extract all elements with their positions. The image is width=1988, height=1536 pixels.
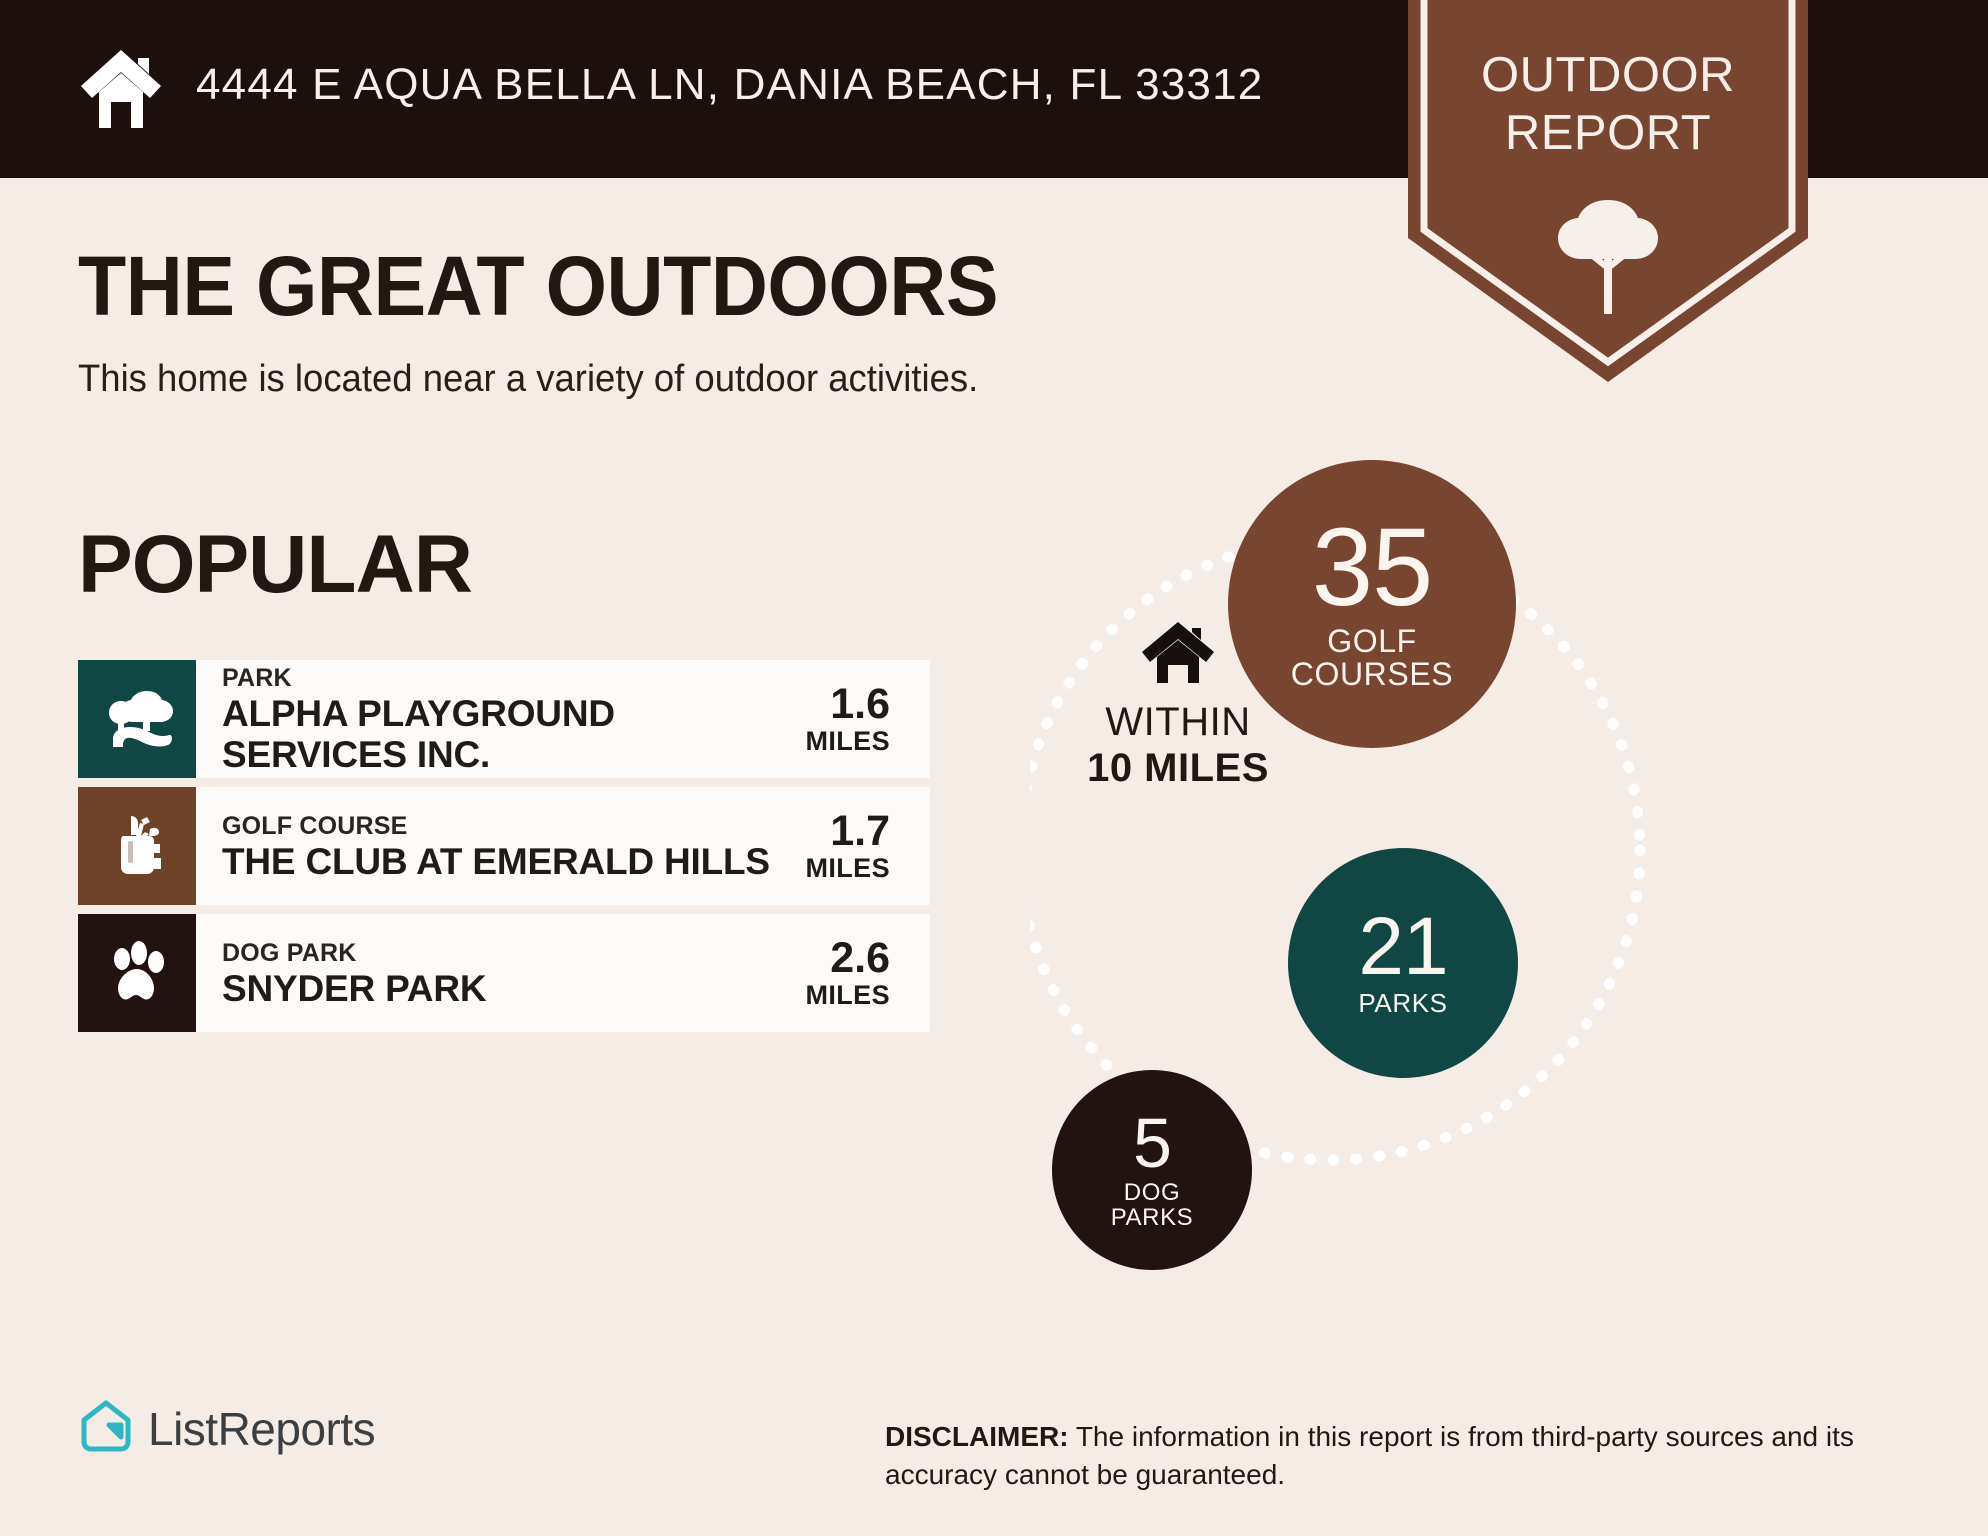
- stat-parks[interactable]: 21 PARKS: [1288, 848, 1518, 1078]
- row-icon-tile: [78, 914, 196, 1032]
- row-category: GOLF COURSE: [222, 811, 782, 841]
- row-name: THE CLUB AT EMERALD HILLS: [222, 841, 782, 882]
- row-icon-tile: [78, 787, 196, 905]
- stat-label-line1: DOG: [1111, 1180, 1194, 1205]
- listreports-house-icon: [78, 1398, 134, 1459]
- golf-bag-icon: [101, 810, 173, 882]
- row-name: SNYDER PARK: [222, 968, 782, 1009]
- stat-label: GOLF COURSES: [1291, 625, 1453, 692]
- stat-golf-courses[interactable]: 35 GOLF COURSES: [1228, 460, 1516, 748]
- stat-label-line2: PARKS: [1111, 1205, 1194, 1230]
- row-name: ALPHA PLAYGROUND SERVICES INC.: [222, 693, 782, 775]
- stat-value: 21: [1358, 908, 1447, 986]
- popular-list: PARK ALPHA PLAYGROUND SERVICES INC. 1.6 …: [78, 660, 930, 1041]
- row-distance-unit: MILES: [782, 980, 890, 1010]
- badge-title-line1: OUTDOOR: [1408, 46, 1808, 104]
- property-address: 4444 E AQUA BELLA LN, DANIA BEACH, FL 33…: [196, 60, 1263, 110]
- list-item[interactable]: PARK ALPHA PLAYGROUND SERVICES INC. 1.6 …: [78, 660, 930, 778]
- listreports-logo-text: ListReports: [148, 1402, 375, 1456]
- row-distance-unit: MILES: [782, 853, 890, 883]
- row-distance: 1.6 MILES: [782, 682, 918, 756]
- stat-label-line1: GOLF: [1291, 625, 1453, 659]
- paw-print-icon: [101, 937, 173, 1009]
- house-icon: [75, 42, 167, 134]
- within-line2: 10 MILES: [1044, 745, 1312, 791]
- stat-value: 5: [1133, 1110, 1171, 1177]
- badge-title: OUTDOOR REPORT: [1408, 46, 1808, 162]
- row-distance: 2.6 MILES: [782, 936, 918, 1010]
- row-category: DOG PARK: [222, 938, 782, 968]
- row-category: PARK: [222, 663, 782, 693]
- disclaimer-label: DISCLAIMER:: [885, 1421, 1069, 1452]
- disclaimer: DISCLAIMER: The information in this repo…: [885, 1418, 1925, 1494]
- row-body: PARK ALPHA PLAYGROUND SERVICES INC. 1.6 …: [196, 660, 930, 778]
- row-body: GOLF COURSE THE CLUB AT EMERALD HILLS 1.…: [196, 787, 930, 905]
- park-trees-icon: [101, 683, 173, 755]
- popular-heading: POPULAR: [78, 518, 472, 612]
- stats-cluster: WITHIN 10 MILES 35 GOLF COURSES 21 PARKS…: [1030, 440, 1930, 1300]
- row-body: DOG PARK SNYDER PARK 2.6 MILES: [196, 914, 930, 1032]
- outdoor-report-badge: OUTDOOR REPORT: [1408, 0, 1808, 382]
- stat-label-line2: COURSES: [1291, 658, 1453, 692]
- row-distance-value: 1.7: [782, 809, 890, 853]
- stat-dog-parks[interactable]: 5 DOG PARKS: [1052, 1070, 1252, 1270]
- page-title: THE GREAT OUTDOORS: [78, 238, 998, 335]
- listreports-logo[interactable]: ListReports: [78, 1398, 375, 1459]
- row-text: PARK ALPHA PLAYGROUND SERVICES INC.: [222, 663, 782, 775]
- stat-label-line1: PARKS: [1358, 990, 1447, 1017]
- stat-value: 35: [1312, 516, 1432, 621]
- row-distance: 1.7 MILES: [782, 809, 918, 883]
- list-item[interactable]: DOG PARK SNYDER PARK 2.6 MILES: [78, 914, 930, 1032]
- row-text: GOLF COURSE THE CLUB AT EMERALD HILLS: [222, 811, 782, 882]
- page-subtitle: This home is located near a variety of o…: [78, 358, 978, 401]
- row-distance-unit: MILES: [782, 726, 890, 756]
- row-text: DOG PARK SNYDER PARK: [222, 938, 782, 1009]
- stat-label: PARKS: [1358, 990, 1447, 1017]
- outdoor-report-page: 4444 E AQUA BELLA LN, DANIA BEACH, FL 33…: [0, 0, 1988, 1536]
- badge-title-line2: REPORT: [1408, 104, 1808, 162]
- row-icon-tile: [78, 660, 196, 778]
- row-distance-value: 2.6: [782, 936, 890, 980]
- stat-label: DOG PARKS: [1111, 1180, 1194, 1230]
- row-distance-value: 1.6: [782, 682, 890, 726]
- list-item[interactable]: GOLF COURSE THE CLUB AT EMERALD HILLS 1.…: [78, 787, 930, 905]
